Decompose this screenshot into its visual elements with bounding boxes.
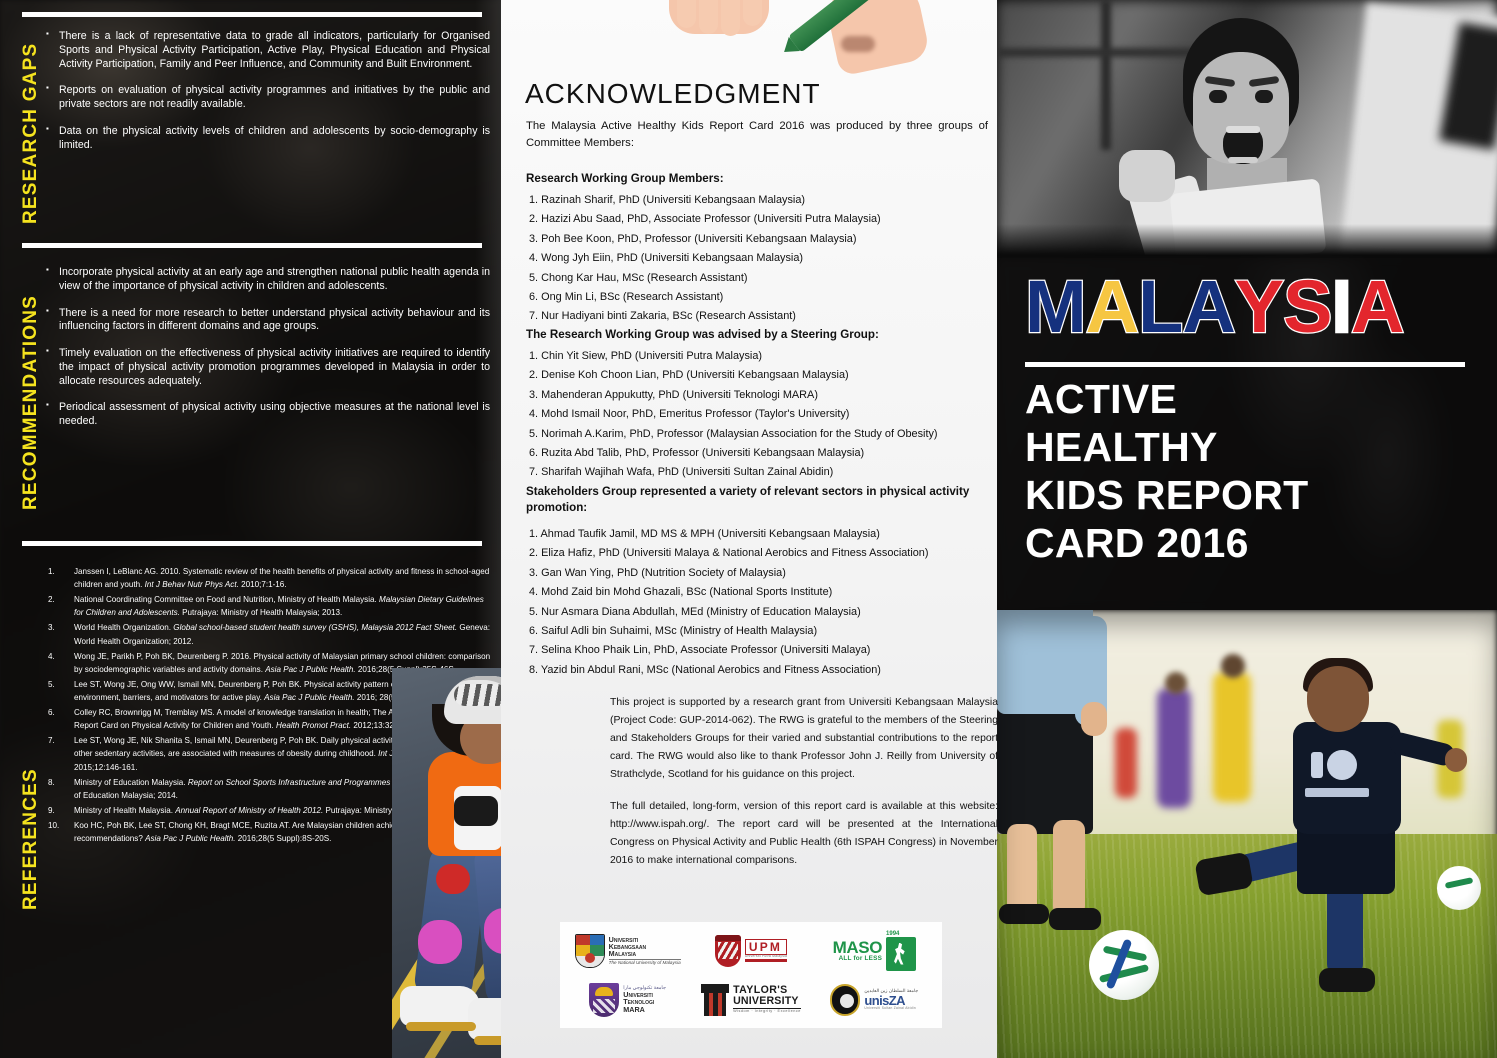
logo-sublabel: The National University of Malaysia — [609, 959, 681, 966]
research-working-group-list: 1. Razinah Sharif, PhD (Universiti Keban… — [529, 191, 881, 327]
taylors-emblem-icon — [701, 984, 729, 1016]
list-item: 6. Ruzita Abd Talib, PhD, Professor (Uni… — [529, 444, 938, 463]
list-item: 4. Wong Jyh Eiin, PhD (Universiti Kebang… — [529, 249, 881, 268]
reference-number: 5. — [48, 678, 70, 691]
title-letter: S — [1283, 272, 1331, 342]
reference-item: 1.Janssen I, LeBlanc AG. 2010. Systemati… — [44, 565, 492, 591]
list-item: 1. Razinah Sharif, PhD (Universiti Keban… — [529, 191, 881, 210]
unisza-crest-icon — [830, 984, 860, 1016]
divider-references — [22, 541, 482, 546]
logo-label: MARA — [623, 1006, 666, 1013]
reference-number: 1. — [48, 565, 70, 578]
stakeholders-group-list: 1. Ahmad Taufik Jamil, MD MS & MPH (Univ… — [529, 525, 929, 680]
list-item: 3. Gan Wan Ying, PhD (Nutrition Society … — [529, 564, 929, 583]
cover-subtitle-line: CARD 2016 — [1025, 520, 1309, 568]
list-item: 2. Hazizi Abu Saad, PhD, Associate Profe… — [529, 210, 881, 229]
research-gaps-item: Data on the physical activity levels of … — [46, 125, 490, 153]
list-item: 2. Denise Koh Choon Lian, PhD (Universit… — [529, 366, 938, 385]
list-item: 3. Mahenderan Appukutty, PhD (Universiti… — [529, 386, 938, 405]
list-item: 5. Norimah A.Karim, PhD, Professor (Mala… — [529, 425, 938, 444]
logo-maso: MASO ALL for LESS 1994 — [833, 929, 916, 973]
list-item: 8. Yazid bin Abdul Rani, MSc (National A… — [529, 661, 929, 680]
logo-label: unisZA — [864, 994, 918, 1007]
recommendations-item: There is a need for more research to bet… — [46, 307, 490, 335]
maso-runner-icon — [886, 937, 916, 971]
reference-item: 3.World Health Organization. Global scho… — [44, 621, 492, 647]
recommendations-heading: RECOMMENDATIONS — [20, 264, 42, 510]
logo-taylors-university: TAYLOR'S UNIVERSITY Wisdom · Integrity ·… — [701, 978, 801, 1022]
malaysia-wordmark: M A L A Y S I A — [1025, 272, 1404, 342]
reference-number: 3. — [48, 621, 70, 634]
list-item: 5. Nur Asmara Diana Abdullah, MEd (Minis… — [529, 603, 929, 622]
reference-number: 6. — [48, 706, 70, 719]
logo-label: MASO — [833, 939, 882, 956]
hands-crayon-photo — [501, 0, 997, 78]
research-gaps-block: There is a lack of representative data t… — [46, 30, 490, 165]
uitm-crest-icon — [589, 983, 619, 1017]
recommendations-item: Timely evaluation on the effectiveness o… — [46, 347, 490, 388]
logo-universiti-teknologi-mara: جامعة تكنولوجي مارا Universiti Teknologi… — [589, 978, 666, 1022]
support-paragraph-2: The full detailed, long-form, version of… — [610, 798, 998, 870]
cover-subtitle-line: ACTIVE — [1025, 376, 1309, 424]
steering-group-heading: The Research Working Group was advised b… — [526, 328, 879, 341]
research-gaps-item: Reports on evaluation of physical activi… — [46, 84, 490, 112]
title-letter: L — [1138, 272, 1182, 342]
list-item: 1. Chin Yit Siew, PhD (Universiti Putra … — [529, 347, 938, 366]
recommendations-item: Incorporate physical activity at an earl… — [46, 266, 490, 294]
divider-top — [22, 12, 482, 17]
middle-panel: ACKNOWLEDGMENT The Malaysia Active Healt… — [501, 0, 997, 1058]
logo-unisza: جامعة السلطان زين العابدين unisZA Univer… — [830, 978, 918, 1022]
list-item: 4. Mohd Zaid bin Mohd Ghazali, BSc (Nati… — [529, 583, 929, 602]
list-item: 1. Ahmad Taufik Jamil, MD MS & MPH (Univ… — [529, 525, 929, 544]
recommendations-block: Incorporate physical activity at an earl… — [46, 266, 490, 442]
list-item: 7. Selina Khoo Phaik Lin, PhD, Associate… — [529, 641, 929, 660]
logo-sublabel: ALL for LESS — [833, 956, 882, 963]
cover-title-zone: M A L A Y S I A ACTIVE HEALTHY KIDS REPO… — [997, 258, 1497, 610]
research-gaps-item: There is a lack of representative data t… — [46, 30, 490, 71]
research-working-group-heading: Research Working Group Members: — [526, 172, 724, 185]
reference-number: 10. — [48, 819, 70, 832]
list-item: 2. Eliza Hafiz, PhD (Universiti Malaya &… — [529, 544, 929, 563]
stakeholders-group-heading: Stakeholders Group represented a variety… — [526, 484, 978, 517]
title-letter: A — [1182, 272, 1234, 342]
cover-divider — [1025, 362, 1465, 367]
right-panel-cover: M A L A Y S I A ACTIVE HEALTHY KIDS REPO… — [997, 0, 1497, 1058]
title-letter: M — [1025, 272, 1086, 342]
soccer-boy-photo — [997, 610, 1497, 1058]
title-letter: I — [1331, 272, 1351, 342]
references-heading: REFERENCES — [20, 770, 42, 910]
logo-universiti-kebangsaan-malaysia: Universiti Kebangsaan Malaysia The Natio… — [575, 929, 681, 973]
logo-sublabel: Universiti Putra Malaysia — [745, 955, 787, 958]
logo-universiti-putra-malaysia: UPM Universiti Putra Malaysia — [715, 929, 787, 973]
logo-label: Malaysia — [609, 950, 681, 957]
logo-label: UPM — [749, 941, 783, 953]
list-item: 4. Mohd Ismail Noor, PhD, Emeritus Profe… — [529, 405, 938, 424]
logo-year: 1994 — [886, 931, 916, 937]
support-text: This project is supported by a research … — [610, 694, 998, 870]
research-gaps-list: There is a lack of representative data t… — [46, 30, 490, 152]
cover-subtitle: ACTIVE HEALTHY KIDS REPORT CARD 2016 — [1025, 376, 1309, 568]
title-letter: A — [1351, 272, 1403, 342]
acknowledgment-lead: The Malaysia Active Healthy Kids Report … — [526, 118, 988, 152]
logo-strip: Universiti Kebangsaan Malaysia The Natio… — [560, 922, 942, 1028]
list-item: 5. Chong Kar Hau, MSc (Research Assistan… — [529, 269, 881, 288]
cover-subtitle-line: HEALTHY — [1025, 424, 1309, 472]
page-title: ACKNOWLEDGMENT — [525, 78, 821, 110]
left-panel: RESEARCH GAPS There is a lack of represe… — [0, 0, 501, 1058]
recommendations-item: Periodical assessment of physical activi… — [46, 401, 490, 429]
reference-number: 4. — [48, 650, 70, 663]
list-item: 6. Saiful Adli bin Suhaimi, MSc (Ministr… — [529, 622, 929, 641]
list-item: 6. Ong Min Li, BSc (Research Assistant) — [529, 288, 881, 307]
roller-skater-photo — [392, 668, 501, 1058]
steering-group-list: 1. Chin Yit Siew, PhD (Universiti Putra … — [529, 347, 938, 483]
support-paragraph-1: This project is supported by a research … — [610, 694, 998, 783]
reference-item: 2.National Coordinating Committee on Foo… — [44, 593, 492, 619]
list-item: 3. Poh Bee Koon, PhD, Professor (Univers… — [529, 230, 881, 249]
logo-label: UNIVERSITY — [733, 996, 801, 1009]
karate-boy-photo — [997, 0, 1497, 258]
ukm-crest-icon — [575, 934, 605, 968]
brochure-page: RESEARCH GAPS There is a lack of represe… — [0, 0, 1497, 1058]
reference-number: 8. — [48, 776, 70, 789]
title-letter: Y — [1235, 272, 1283, 342]
logo-sublabel: Wisdom · Integrity · Excellence — [733, 1010, 801, 1014]
research-gaps-heading: RESEARCH GAPS — [20, 26, 42, 224]
recommendations-list: Incorporate physical activity at an earl… — [46, 266, 490, 429]
list-item: 7. Nur Hadiyani binti Zakaria, BSc (Rese… — [529, 307, 881, 326]
title-letter: A — [1086, 272, 1138, 342]
reference-number: 2. — [48, 593, 70, 606]
list-item: 7. Sharifah Wajihah Wafa, PhD (Universit… — [529, 463, 938, 482]
logo-sublabel: Universiti Sultan Zainal Abidin — [864, 1007, 918, 1010]
divider-recommendations — [22, 243, 482, 248]
reference-number: 7. — [48, 734, 70, 747]
cover-subtitle-line: KIDS REPORT — [1025, 472, 1309, 520]
upm-shield-icon — [715, 935, 741, 967]
reference-number: 9. — [48, 804, 70, 817]
